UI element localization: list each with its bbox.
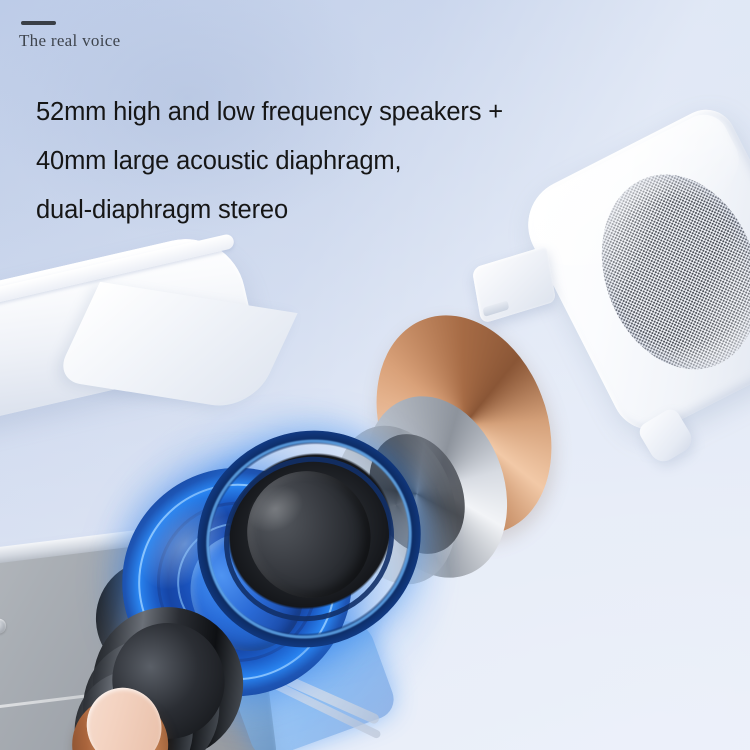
clip-notch (483, 300, 509, 317)
eyebrow-rule (21, 21, 56, 25)
headline-text: 52mm high and low frequency speakers + 4… (36, 88, 676, 235)
eyebrow-label: The real voice (19, 31, 120, 51)
product-feature-image: The real voice 52mm high and low frequen… (0, 0, 750, 750)
